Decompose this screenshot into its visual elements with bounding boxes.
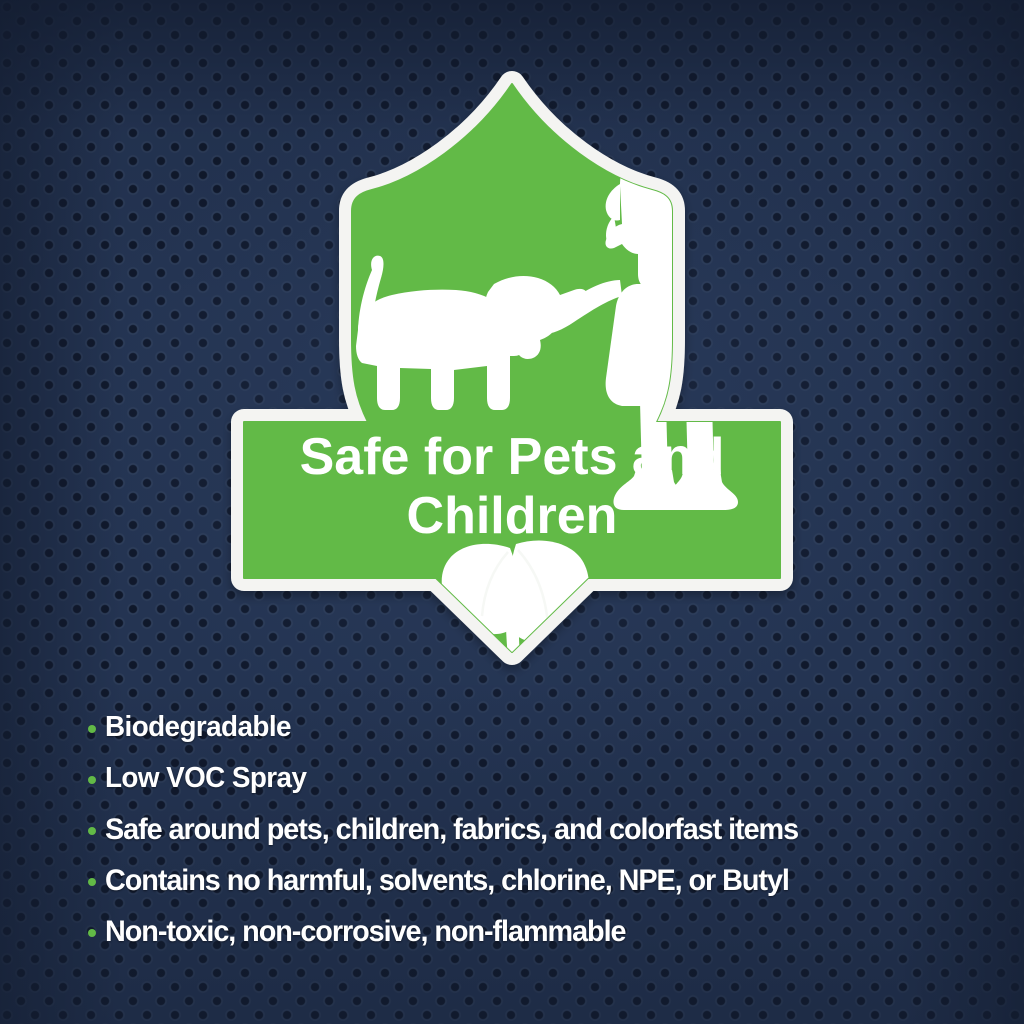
badge-title-line-1: Safe for Pets and [300,428,725,486]
bullet-dot-icon [88,725,96,733]
list-item: Contains no harmful, solvents, chlorine,… [88,855,968,906]
bullet-dot-icon [88,929,96,937]
feature-label: Low VOC Spray [105,764,306,793]
list-item: Safe around pets, children, fabrics, and… [88,804,968,855]
list-item: Biodegradable [88,702,968,753]
bullet-dot-icon [88,776,96,784]
feature-label: Non-toxic, non-corrosive, non-flammable [105,917,625,947]
feature-label: Contains no harmful, solvents, chlorine,… [105,866,789,896]
bullet-dot-icon [88,878,96,886]
list-item: Low VOC Spray [88,753,968,804]
feature-label: Safe around pets, children, fabrics, and… [105,815,798,845]
product-feature-graphic: Safe for Pets and Children Biodegradable… [0,0,1024,1024]
badge-title-line-2: Children [407,487,618,545]
safe-for-pets-and-children-badge: Safe for Pets and Children [222,78,802,658]
feature-label: Biodegradable [105,713,291,742]
list-item: Non-toxic, non-corrosive, non-flammable [88,906,968,957]
bullet-dot-icon [88,827,96,835]
feature-bullet-list: Biodegradable Low VOC Spray Safe around … [88,702,968,957]
